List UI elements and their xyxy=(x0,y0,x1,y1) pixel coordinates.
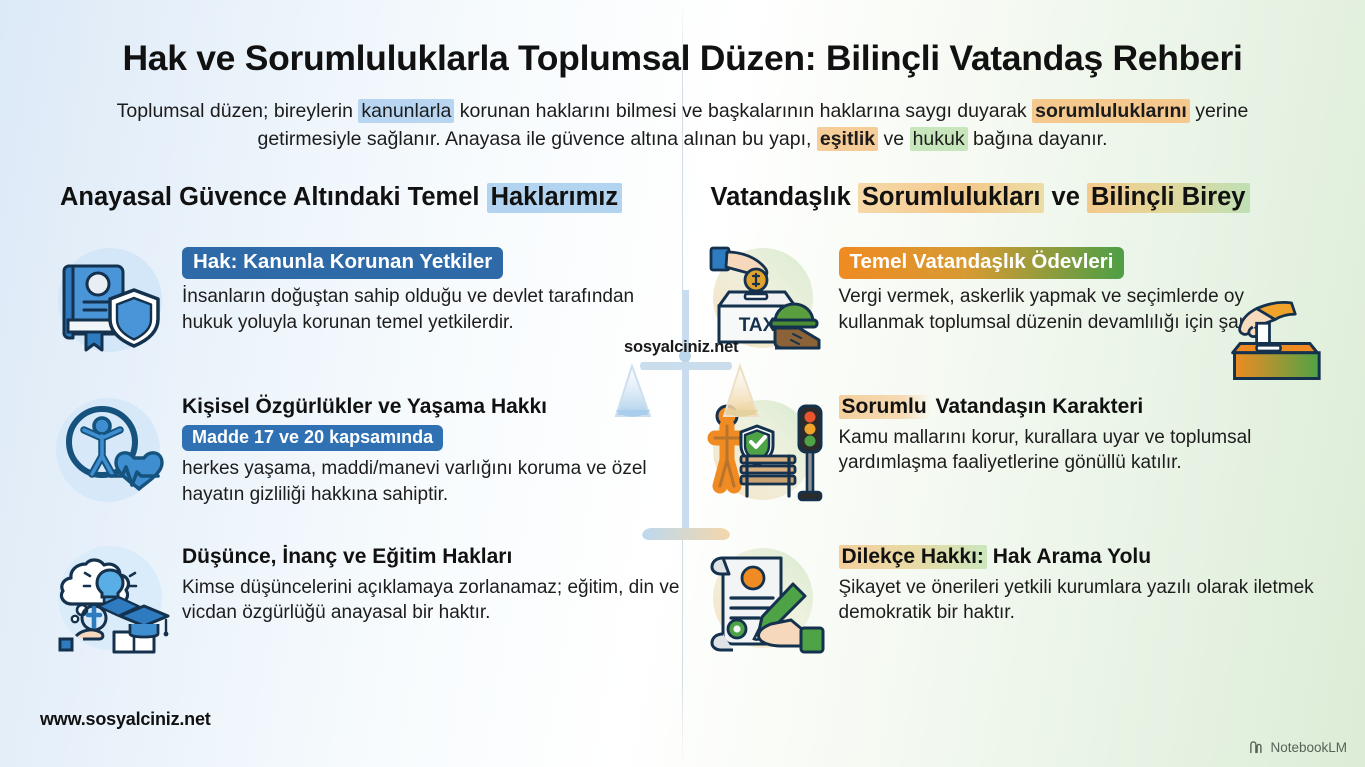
right-card-3-title-highlight: Dilekçe Hakkı: xyxy=(839,545,987,569)
right-card-2-text: Kamu mallarını korur, kurallara uyar ve … xyxy=(839,425,1320,476)
right-card-3-text: Şikayet ve önerileri yetkili kurumlara y… xyxy=(839,575,1320,626)
left-card-3-title: Düşünce, İnanç ve Eğitim Hakları xyxy=(182,544,683,569)
right-title-part-1: Vatandaşlık xyxy=(711,183,858,211)
subtitle-highlight-kanunlarla: kanunlarla xyxy=(358,99,454,123)
left-title-plain: Anayasal Güvence Altındaki Temel xyxy=(60,183,487,211)
left-column-title: Anayasal Güvence Altındaki Temel Hakları… xyxy=(46,183,683,212)
subtitle-text-1: Toplumsal düzen; bireylerin xyxy=(117,100,359,122)
right-title-part-2: ve xyxy=(1044,183,1087,211)
notebooklm-brand: NotebookLM xyxy=(1249,740,1347,755)
left-card-3-text: Kimse düşüncelerini açıklamaya zorlanama… xyxy=(182,575,683,626)
left-card-2-body: Kişisel Özgürlükler ve Yaşama Hakkı Madd… xyxy=(182,386,683,507)
subtitle-text-2: korunan haklarını bilmesi ve başkalarını… xyxy=(454,100,1032,122)
right-card-3-title-rest: Hak Arama Yolu xyxy=(987,545,1151,568)
right-column: Vatandaşlık Sorumlulukları ve Bilinçli B… xyxy=(683,183,1320,686)
site-watermark: www.sosyalciniz.net xyxy=(40,709,211,730)
subtitle-highlight-sorumluluklarini: sorumluluklarını xyxy=(1032,99,1190,123)
right-card-1-body: Temel Vatandaşlık Ödevleri Vergi vermek,… xyxy=(839,236,1320,335)
right-card-1-badge: Temel Vatandaşlık Ödevleri xyxy=(839,247,1125,279)
left-card-2-badge: Madde 17 ve 20 kapsamında xyxy=(182,425,443,452)
thought-education-icon xyxy=(46,536,174,664)
right-card-3-title: Dilekçe Hakkı: Hak Arama Yolu xyxy=(839,544,1320,569)
person-heart-pulse-icon xyxy=(46,386,174,514)
content-columns: Anayasal Güvence Altındaki Temel Hakları… xyxy=(0,183,1365,686)
left-card-1: Hak: Kanunla Korunan Yetkiler İnsanların… xyxy=(46,236,683,364)
left-card-2: Kişisel Özgürlükler ve Yaşama Hakkı Madd… xyxy=(46,386,683,514)
left-column: Anayasal Güvence Altındaki Temel Hakları… xyxy=(46,183,683,686)
left-card-3: Düşünce, İnanç ve Eğitim Hakları Kimse d… xyxy=(46,536,683,664)
page-subtitle: Toplumsal düzen; bireylerin kanunlarla k… xyxy=(93,97,1273,154)
notebooklm-label: NotebookLM xyxy=(1270,740,1347,755)
notebooklm-icon xyxy=(1249,740,1264,755)
book-shield-icon xyxy=(46,236,174,364)
right-card-2: Sorumlu Vatandaşın Karakteri Kamu mallar… xyxy=(701,386,1320,514)
petition-signing-icon xyxy=(701,536,829,664)
right-card-2-body: Sorumlu Vatandaşın Karakteri Kamu mallar… xyxy=(839,386,1320,475)
right-card-2-title-highlight: Sorumlu xyxy=(839,395,930,419)
left-card-2-badge-row: Madde 17 ve 20 kapsamında xyxy=(182,425,683,452)
right-title-highlight-sorumluluklari: Sorumlulukları xyxy=(858,183,1045,213)
right-card-2-title-rest: Vatandaşın Karakteri xyxy=(930,395,1144,418)
left-card-1-badge-row: Hak: Kanunla Korunan Yetkiler xyxy=(182,247,683,279)
right-card-2-title: Sorumlu Vatandaşın Karakteri xyxy=(839,394,1320,419)
subtitle-text-4: ve xyxy=(878,128,909,150)
watermark-center: sosyalciniz.net xyxy=(624,338,738,357)
right-title-highlight-bilincli-birey: Bilinçli Birey xyxy=(1087,183,1249,213)
subtitle-highlight-hukuk: hukuk xyxy=(910,127,968,151)
right-card-1-text: Vergi vermek, askerlik yapmak ve seçimle… xyxy=(839,284,1320,335)
left-card-1-body: Hak: Kanunla Korunan Yetkiler İnsanların… xyxy=(182,236,683,335)
left-card-3-body: Düşünce, İnanç ve Eğitim Hakları Kimse d… xyxy=(182,536,683,625)
left-card-1-badge: Hak: Kanunla Korunan Yetkiler xyxy=(182,247,503,279)
left-card-2-text: herkes yaşama, maddi/manevi varlığını ko… xyxy=(182,456,683,507)
left-card-1-text: İnsanların doğuştan sahip olduğu ve devl… xyxy=(182,284,683,335)
subtitle-highlight-esitlik: eşitlik xyxy=(817,127,878,151)
subtitle-text-5: bağına dayanır. xyxy=(968,128,1108,150)
right-card-3: Dilekçe Hakkı: Hak Arama Yolu Şikayet ve… xyxy=(701,536,1320,664)
right-card-1: TAX Temel Vatandaşlık Ödevleri xyxy=(701,236,1320,364)
left-title-highlight: Haklarımız xyxy=(487,183,623,213)
left-card-2-title: Kişisel Özgürlükler ve Yaşama Hakkı xyxy=(182,394,683,419)
infographic-page: Hak ve Sorumluluklarla Toplumsal Düzen: … xyxy=(0,0,1365,767)
citizen-shield-traffic-icon xyxy=(701,386,829,514)
right-column-title: Vatandaşlık Sorumlulukları ve Bilinçli B… xyxy=(701,183,1320,212)
right-card-3-body: Dilekçe Hakkı: Hak Arama Yolu Şikayet ve… xyxy=(839,536,1320,625)
header: Hak ve Sorumluluklarla Toplumsal Düzen: … xyxy=(0,0,1365,153)
right-card-1-badge-row: Temel Vatandaşlık Ödevleri xyxy=(839,247,1320,279)
page-title: Hak ve Sorumluluklarla Toplumsal Düzen: … xyxy=(60,38,1305,79)
